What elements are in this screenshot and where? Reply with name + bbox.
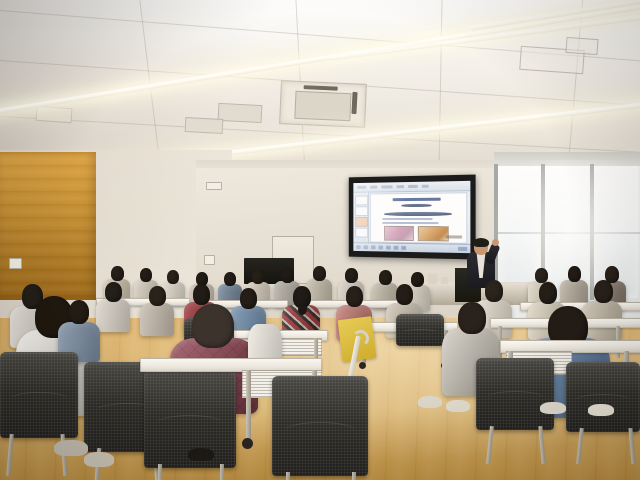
head — [149, 286, 166, 306]
chair-leg — [158, 464, 162, 480]
chair-backrest — [0, 352, 78, 438]
table-caster — [359, 362, 366, 369]
shoe — [188, 448, 214, 461]
taskbar-button[interactable] — [401, 246, 406, 250]
hair-tie — [298, 304, 307, 315]
head — [379, 270, 392, 285]
chair-backrest — [566, 362, 640, 432]
audience-member — [140, 286, 174, 334]
slide-signature-mark — [446, 235, 462, 238]
head — [252, 270, 264, 284]
slide-heading-line — [384, 212, 453, 216]
slide-thumbnail[interactable] — [355, 217, 368, 227]
presentation-toolbar — [353, 181, 470, 193]
ceiling-access-panel — [565, 37, 598, 55]
shoe — [446, 400, 470, 412]
toolbar-item — [357, 186, 366, 189]
head — [192, 304, 234, 348]
slide-photo-left — [384, 226, 414, 241]
projected-image — [353, 181, 470, 253]
slide-photo-right — [417, 226, 448, 241]
head — [346, 286, 363, 307]
window-transom — [494, 232, 640, 234]
wall-switch-panel[interactable] — [204, 255, 215, 265]
chair-leg — [286, 472, 290, 480]
presenter-hand — [492, 239, 499, 246]
chair-backrest — [272, 376, 368, 476]
toolbar-item — [422, 185, 429, 188]
head — [224, 272, 236, 286]
slide-subtitle-line — [401, 204, 431, 207]
chair-leg — [352, 472, 356, 480]
slide-thumbnail-pane[interactable] — [353, 193, 369, 244]
window-head-trim — [494, 152, 640, 166]
table-caster — [242, 438, 253, 449]
ceiling-vent — [218, 103, 263, 123]
slide-canvas[interactable] — [370, 192, 467, 244]
head — [458, 302, 486, 334]
head — [568, 266, 581, 282]
toolbar-item — [396, 185, 404, 188]
slide-thumbnail[interactable] — [355, 228, 368, 238]
shoe — [540, 402, 566, 414]
toolbar-item — [381, 185, 392, 188]
umbrella-handle — [352, 330, 369, 347]
projection-screen — [349, 175, 476, 260]
chair-backrest — [396, 314, 444, 346]
ac-slot — [304, 85, 338, 90]
ceiling-vent — [185, 117, 224, 134]
mesh-chair[interactable] — [566, 362, 640, 432]
audience-member — [58, 300, 100, 360]
os-taskbar — [353, 242, 470, 253]
head — [396, 284, 413, 305]
toolbar-item — [370, 186, 377, 189]
head — [594, 280, 613, 303]
head — [313, 266, 326, 281]
torso — [140, 303, 174, 336]
table-leg — [246, 370, 251, 440]
presenter-hair — [473, 238, 489, 247]
mesh-chair[interactable] — [476, 358, 554, 430]
mesh-chair[interactable] — [0, 352, 78, 438]
head — [281, 268, 294, 283]
slide-title-line — [393, 198, 441, 201]
head — [69, 300, 89, 324]
seminar-room-photo — [0, 0, 640, 480]
slide-body-line — [382, 222, 439, 224]
taskbar-button[interactable] — [356, 245, 361, 249]
shoe — [418, 396, 442, 408]
shoe — [54, 440, 88, 456]
head — [167, 270, 179, 284]
taskbar-button[interactable] — [394, 246, 399, 250]
slide-thumbnail[interactable] — [355, 196, 368, 206]
audience-member — [96, 282, 130, 330]
head — [535, 268, 548, 283]
wall-switch-panel[interactable] — [206, 182, 222, 190]
wall-switch-panel[interactable] — [9, 258, 22, 269]
head — [193, 284, 210, 305]
chair-leg — [220, 464, 224, 480]
taskbar-button[interactable] — [371, 245, 376, 249]
mesh-chair[interactable] — [396, 314, 444, 346]
wood-accent-panel — [0, 152, 96, 300]
head — [345, 268, 358, 283]
slide-body-line — [382, 218, 433, 220]
head — [539, 282, 557, 304]
taskbar-button[interactable] — [363, 245, 368, 249]
mesh-chair[interactable] — [272, 376, 368, 476]
torso — [96, 299, 130, 332]
head — [485, 280, 503, 302]
head — [105, 282, 122, 302]
ceiling-vent — [36, 106, 73, 123]
chair-backrest — [476, 358, 554, 430]
shoe — [84, 452, 114, 467]
toolbar-item — [408, 185, 418, 188]
slide-thumbnail[interactable] — [355, 206, 368, 216]
head — [140, 268, 152, 282]
ac-grille — [294, 91, 351, 121]
shoe — [588, 404, 614, 416]
counter-equipment — [441, 277, 448, 284]
head — [111, 266, 124, 281]
taskbar-button[interactable] — [386, 246, 391, 250]
taskbar-button[interactable] — [378, 245, 383, 249]
